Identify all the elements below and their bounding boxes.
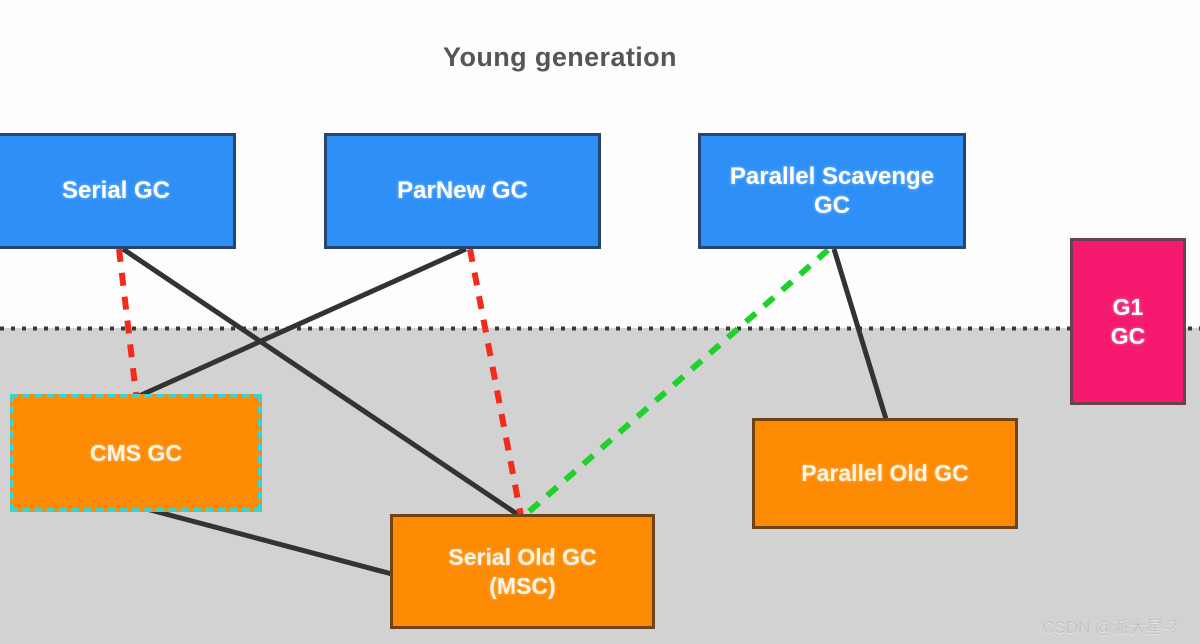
node-serial-gc[interactable]: Serial GC (0, 133, 236, 249)
node-g1-gc[interactable]: G1 GC (1070, 238, 1186, 405)
node-serial-gc-label: Serial GC (62, 176, 170, 205)
node-serial-old-gc-label: Serial Old GC (MSC) (448, 543, 596, 599)
node-cms-gc[interactable]: CMS GC (10, 394, 262, 512)
node-parallel-old-gc-label: Parallel Old GC (801, 459, 968, 487)
gc-collector-diagram: Young generation Serial GC ParNew GC Par… (0, 0, 1200, 644)
node-parallel-scavenge-gc-label: Parallel Scavenge GC (730, 162, 934, 221)
node-cms-gc-label: CMS GC (90, 439, 182, 467)
node-g1-gc-label-line2: GC (1111, 322, 1146, 350)
node-parallel-scavenge-gc[interactable]: Parallel Scavenge GC (698, 133, 966, 249)
page-title: Young generation (0, 42, 1120, 73)
node-serial-old-gc-label-line2: (MSC) (489, 573, 555, 599)
node-parallel-scavenge-gc-label-line1: Parallel Scavenge (730, 163, 934, 190)
watermark: CSDN @派大星-？ (1042, 613, 1186, 638)
node-serial-old-gc-label-line1: Serial Old GC (448, 544, 596, 570)
node-parnew-gc[interactable]: ParNew GC (324, 133, 601, 249)
node-parallel-scavenge-gc-label-line2: GC (814, 192, 850, 219)
node-g1-gc-label-line1: G1 (1113, 293, 1144, 321)
node-serial-old-gc[interactable]: Serial Old GC (MSC) (390, 514, 655, 629)
node-parnew-gc-label: ParNew GC (397, 176, 528, 205)
node-parallel-old-gc[interactable]: Parallel Old GC (752, 418, 1018, 529)
